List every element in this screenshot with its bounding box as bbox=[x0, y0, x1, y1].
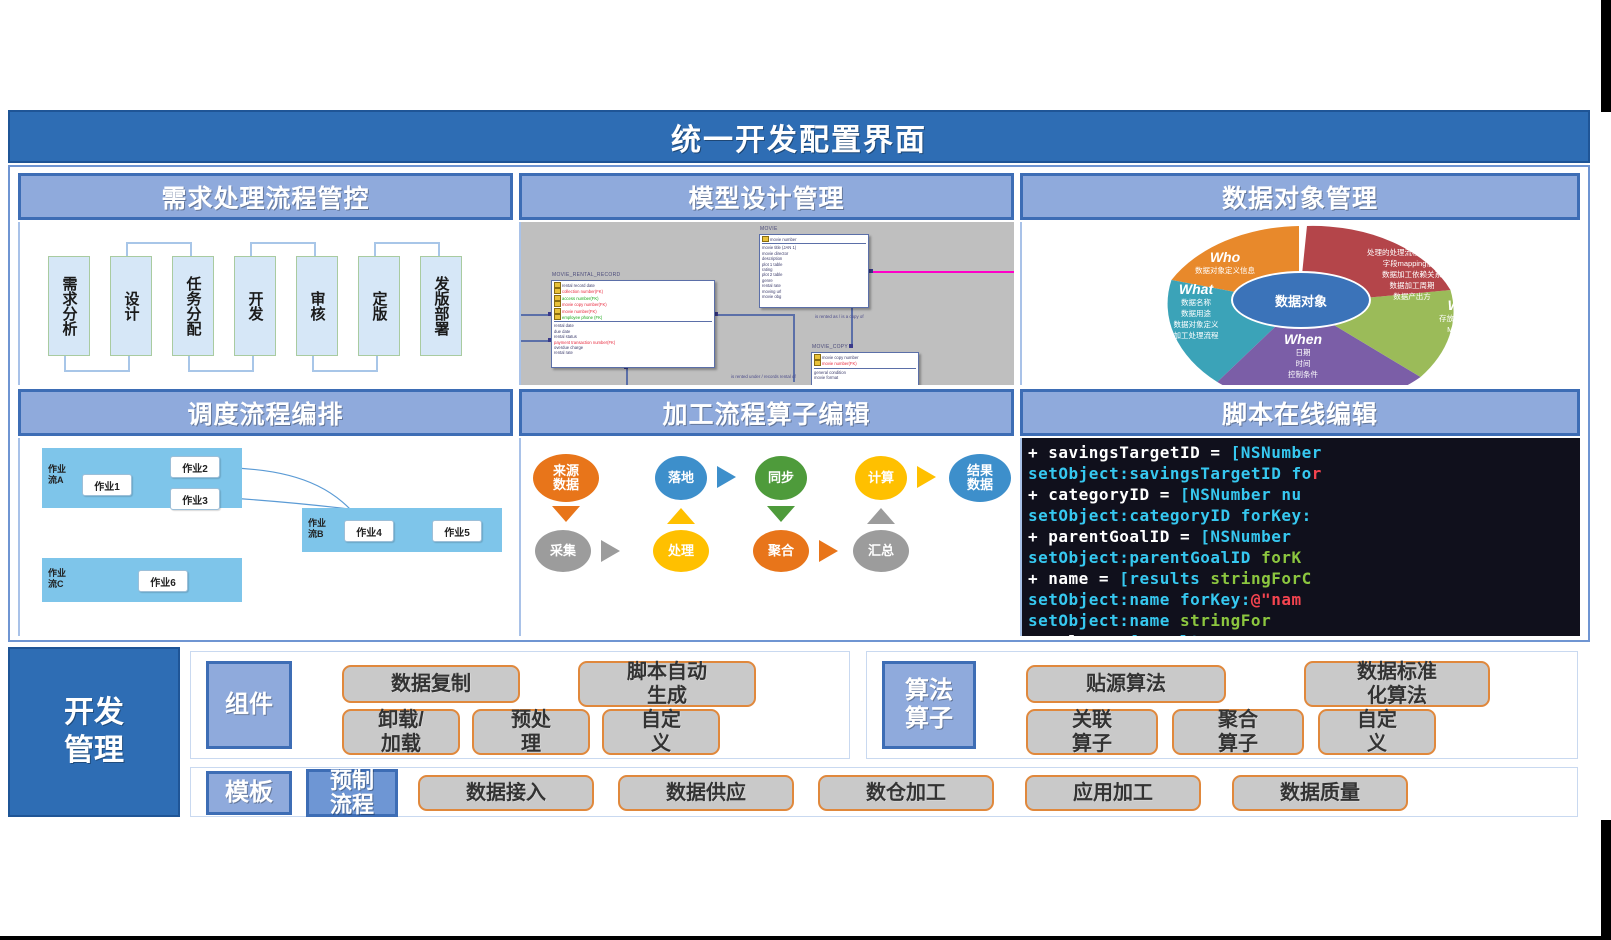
key-icon bbox=[814, 354, 821, 360]
operator-node-sync[interactable]: 同步 bbox=[755, 456, 807, 500]
category-label: 组件 bbox=[225, 691, 273, 719]
er-table-name: MOVIE_COPY bbox=[812, 345, 848, 350]
operator-label: 落地 bbox=[668, 471, 694, 485]
flow-step-5[interactable]: 审核 bbox=[296, 256, 338, 356]
panel-header-data-object: 数据对象管理 bbox=[1020, 173, 1580, 220]
er-relation-label-1: is rented as / is a copy of bbox=[815, 314, 887, 320]
panel-header-script-editor: 脚本在线编辑 bbox=[1020, 389, 1580, 436]
dev-management-label: 开发管理 bbox=[64, 694, 124, 770]
arrow-right-land-to-sync bbox=[717, 466, 736, 488]
er-field: movie number bbox=[770, 237, 797, 242]
code-line: + color = [results bbox=[1028, 631, 1580, 636]
flow-step-6[interactable]: 定版 bbox=[358, 256, 400, 356]
key-icon bbox=[554, 301, 561, 307]
operator-label: 计算 bbox=[868, 471, 894, 485]
requirement-flow-diagram: 需求分析 设计 任务分配 开发 审核 定版 发版部署 bbox=[48, 240, 488, 370]
flow-step-3[interactable]: 任务分配 bbox=[172, 256, 214, 356]
page-edge-right-top bbox=[1601, 0, 1611, 112]
donut-label-desc: 存放物理位置信息 bbox=[1394, 313, 1544, 324]
er-table-name: MOVIE_RENTAL_RECORD bbox=[552, 273, 620, 278]
job-node-3[interactable]: 作业3 bbox=[170, 488, 220, 510]
job-label: 作业3 bbox=[182, 492, 208, 507]
key-icon bbox=[554, 288, 561, 294]
job-flow-a-label: 作业流A bbox=[48, 464, 66, 486]
panel-script-editor[interactable]: 脚本在线编辑 + savingsTargetID = [NSNumber set… bbox=[1020, 389, 1580, 636]
pill-warehouse-processing[interactable]: 数仓加工 bbox=[818, 775, 994, 811]
page-edge-right-bottom bbox=[1601, 820, 1611, 940]
key-icon bbox=[554, 295, 561, 301]
arrow-down-sync-to-agg bbox=[767, 506, 795, 522]
er-field-list: movie title (JAN 1) movie director descr… bbox=[762, 245, 866, 299]
development-management-section: 开发管理 组件 数据复制 脚本自动生成 卸载/加载 预处理 自定义 算法算子 贴… bbox=[8, 647, 1590, 817]
flow-connector-bottom-3 bbox=[312, 356, 378, 372]
category-label: 算法算子 bbox=[905, 677, 953, 733]
category-label: 模板 bbox=[225, 779, 273, 807]
er-line-pink bbox=[871, 271, 1014, 273]
arrow-up-sum-to-calc bbox=[867, 508, 895, 524]
job-node-2[interactable]: 作业2 bbox=[170, 456, 220, 478]
panel-body-model-design: MOVIE_RENTAL_RECORD rental record date c… bbox=[519, 222, 1014, 385]
operator-label: 同步 bbox=[768, 471, 794, 485]
donut-label-desc: 处理的处理流程及加工算法 bbox=[1332, 247, 1492, 258]
er-line-down bbox=[626, 367, 628, 385]
panel-body-data-object: Who 数据对象定义信息 How 处理的处理流程及加工算法 字段mapping信… bbox=[1020, 222, 1580, 385]
operator-node-result[interactable]: 结果数据 bbox=[949, 454, 1011, 502]
er-field: rental status bbox=[554, 334, 577, 339]
code-line: setObject:name stringFor bbox=[1028, 610, 1580, 631]
arrow-down-source-to-collect bbox=[552, 506, 580, 522]
operator-label: 聚合 bbox=[768, 544, 794, 558]
code-editor-area[interactable]: + savingsTargetID = [NSNumber setObject:… bbox=[1022, 438, 1580, 636]
operator-node-source[interactable]: 来源数据 bbox=[533, 454, 599, 502]
donut-label-where: Where 存放物理位置信息 Mapping关系 bbox=[1394, 300, 1544, 335]
er-line-left-1 bbox=[521, 314, 551, 316]
panel-requirement-process[interactable]: 需求处理流程管控 需求分析 设计 任务分配 开发 审核 bbox=[18, 173, 513, 385]
pill-data-supply[interactable]: 数据供应 bbox=[618, 775, 794, 811]
donut-label-key: Where bbox=[1394, 300, 1544, 311]
code-line: setObject:name forKey:@"nam bbox=[1028, 589, 1580, 610]
dev-management-sidebar[interactable]: 开发管理 bbox=[8, 647, 180, 817]
dev-management-content: 组件 数据复制 脚本自动生成 卸载/加载 预处理 自定义 算法算子 贴源算法 数… bbox=[180, 647, 1590, 817]
donut-label-key: How bbox=[1332, 234, 1492, 245]
job-flow-c-label: 作业流C bbox=[48, 568, 66, 590]
panel-title: 模型设计管理 bbox=[688, 179, 844, 215]
er-field: employee phone (FK) bbox=[562, 315, 602, 320]
er-line-mid-vert bbox=[793, 314, 795, 382]
er-field: movie format bbox=[814, 375, 838, 380]
dev-row-templates: 模板 预制流程 数据接入 数据供应 数仓加工 应用加工 数据质量 bbox=[180, 767, 1590, 817]
operator-label: 处理 bbox=[668, 544, 694, 558]
panel-header-scheduler: 调度流程编排 bbox=[18, 389, 513, 436]
key-icon bbox=[814, 360, 821, 366]
pill-source-algorithm[interactable]: 贴源算法 bbox=[1026, 665, 1226, 703]
panel-operator-editor[interactable]: 加工流程算子编辑 来源数据 落地 同步 计算 结果数据 采集 处理 bbox=[519, 389, 1014, 636]
pill-data-quality[interactable]: 数据质量 bbox=[1232, 775, 1408, 811]
donut-label-desc: Mapping关系 bbox=[1394, 324, 1544, 335]
er-field: plot 1 table bbox=[762, 262, 783, 267]
flow-connector-bottom-1 bbox=[64, 356, 130, 372]
er-field: access number(FK) bbox=[562, 296, 599, 301]
arrow-right-collect-to-process bbox=[601, 540, 620, 562]
donut-label-desc: 字段mapping信息 bbox=[1332, 258, 1492, 269]
job-label: 作业2 bbox=[182, 460, 208, 475]
pill-aggregation-operator[interactable]: 聚合算子 bbox=[1172, 709, 1304, 755]
code-line: setObject:savingsTargetID for bbox=[1028, 463, 1580, 484]
panel-body-scheduler: 作业流A 作业1 作业2 作业3 作业流B 作业4 作业5 作业流C 作业6 bbox=[18, 438, 513, 636]
donut-center-label: 数据对象 bbox=[1231, 271, 1371, 329]
er-field: rental date bbox=[554, 323, 574, 328]
main-title-bar: 统一开发配置界面 bbox=[8, 110, 1590, 163]
panel-title: 加工流程算子编辑 bbox=[662, 395, 870, 431]
data-object-donut-chart: Who 数据对象定义信息 How 处理的处理流程及加工算法 字段mapping信… bbox=[1022, 222, 1580, 385]
panel-header-requirement-process: 需求处理流程管控 bbox=[18, 173, 513, 220]
flow-step-label: 审核 bbox=[310, 291, 325, 321]
er-dot-6 bbox=[869, 269, 873, 273]
er-field: movie copy number bbox=[822, 355, 859, 360]
er-line-mid bbox=[716, 314, 794, 316]
flow-step-label: 发版部署 bbox=[434, 276, 449, 336]
donut-label-key: Who bbox=[1150, 252, 1300, 263]
key-icon bbox=[762, 236, 769, 242]
pill-data-standardization-algorithm[interactable]: 数据标准化算法 bbox=[1304, 661, 1490, 707]
panel-header-operator-editor: 加工流程算子编辑 bbox=[519, 389, 1014, 436]
operator-node-calc[interactable]: 计算 bbox=[855, 456, 907, 500]
er-field: movie obg bbox=[762, 294, 781, 299]
pill-association-operator[interactable]: 关联算子 bbox=[1026, 709, 1158, 755]
er-field: moving url bbox=[762, 289, 781, 294]
donut-label-desc: 加工处理流程 bbox=[1130, 330, 1262, 341]
code-line: + name = [results stringForC bbox=[1028, 568, 1580, 589]
category-preset-flow[interactable]: 预制流程 bbox=[306, 769, 398, 817]
job-label: 作业5 bbox=[444, 524, 470, 539]
er-key-list: rental record date collection number(FK)… bbox=[554, 282, 712, 322]
donut-label-desc: 控制条件 bbox=[1238, 369, 1368, 380]
er-field: rental record date bbox=[562, 283, 595, 288]
job-flow-b-label: 作业流B bbox=[308, 518, 326, 540]
er-table-name: MOVIE bbox=[760, 227, 778, 232]
er-field: movie director bbox=[762, 251, 788, 256]
er-field: movie title (JAN 1) bbox=[762, 245, 796, 250]
panel-body-script-editor: + savingsTargetID = [NSNumber setObject:… bbox=[1020, 438, 1580, 636]
er-field: genre bbox=[762, 278, 773, 283]
er-field: rental rate bbox=[554, 350, 573, 355]
operator-label: 汇总 bbox=[868, 544, 894, 558]
job-node-5[interactable]: 作业5 bbox=[432, 520, 482, 542]
pill-data-replication[interactable]: 数据复制 bbox=[342, 665, 520, 703]
flow-step-1[interactable]: 需求分析 bbox=[48, 256, 90, 356]
er-field: due date bbox=[554, 329, 570, 334]
flow-step-4[interactable]: 开发 bbox=[234, 256, 276, 356]
pill-data-ingestion[interactable]: 数据接入 bbox=[418, 775, 594, 811]
flow-step-label: 任务分配 bbox=[186, 276, 201, 336]
er-field: collection number(FK) bbox=[562, 289, 603, 294]
job-node-1[interactable]: 作业1 bbox=[82, 474, 132, 496]
er-field: overdue charge bbox=[554, 345, 583, 350]
arrow-up-process-to-land bbox=[667, 508, 695, 524]
pill-script-auto-generation[interactable]: 脚本自动生成 bbox=[578, 661, 756, 707]
er-table-movie[interactable]: MOVIE movie number movie title (JAN 1) m… bbox=[759, 234, 869, 308]
category-label: 预制流程 bbox=[330, 769, 374, 817]
operator-node-collect[interactable]: 采集 bbox=[535, 530, 591, 572]
job-label: 作业4 bbox=[356, 524, 382, 539]
category-algorithm-operators[interactable]: 算法算子 bbox=[882, 661, 976, 749]
donut-label-desc: 数据对象定义 bbox=[1130, 319, 1262, 330]
job-node-4[interactable]: 作业4 bbox=[344, 520, 394, 542]
arrow-right-calc-to-result bbox=[917, 466, 936, 488]
pill-preprocess[interactable]: 预处理 bbox=[472, 709, 590, 755]
pill-application-processing[interactable]: 应用加工 bbox=[1025, 775, 1201, 811]
operator-label: 采集 bbox=[550, 544, 576, 558]
er-field: description bbox=[762, 256, 782, 261]
job-node-6[interactable]: 作业6 bbox=[138, 570, 188, 592]
flow-step-7[interactable]: 发版部署 bbox=[420, 256, 462, 356]
panel-data-object[interactable]: 数据对象管理 bbox=[1020, 173, 1580, 385]
panel-model-design[interactable]: 模型设计管理 bbox=[519, 173, 1014, 385]
er-field: general condition bbox=[814, 370, 846, 375]
pill-custom-algorithm[interactable]: 自定义 bbox=[1318, 709, 1436, 755]
code-line: setObject:categoryID forKey: bbox=[1028, 505, 1580, 526]
er-field: plot 2 table bbox=[762, 272, 783, 277]
code-line: + categoryID = [NSNumber nu bbox=[1028, 484, 1580, 505]
er-diagram: MOVIE_RENTAL_RECORD rental record date c… bbox=[521, 222, 1014, 385]
er-table-movie-copy[interactable]: MOVIE_COPY movie copy number movie numbe… bbox=[811, 352, 919, 385]
er-line-movie-copy bbox=[851, 304, 853, 346]
panel-title: 数据对象管理 bbox=[1222, 179, 1378, 215]
panel-grid: 需求处理流程管控 需求分析 设计 任务分配 开发 审核 bbox=[8, 165, 1590, 642]
flow-step-label: 定版 bbox=[372, 291, 387, 321]
operator-node-land[interactable]: 落地 bbox=[655, 456, 707, 500]
operator-node-aggregate[interactable]: 聚合 bbox=[753, 530, 809, 572]
er-field: payment transaction number(FK) bbox=[554, 340, 615, 345]
donut-center-text: 数据对象 bbox=[1275, 291, 1327, 310]
er-table-movie-rental-record[interactable]: MOVIE_RENTAL_RECORD rental record date c… bbox=[551, 280, 715, 368]
pill-custom-component[interactable]: 自定义 bbox=[602, 709, 720, 755]
diagram-canvas: 统一开发配置界面 需求处理流程管控 需求分析 设计 bbox=[8, 110, 1595, 820]
er-field-list: rental date due date rental status payme… bbox=[554, 323, 712, 355]
code-line: + parentGoalID = [NSNumber bbox=[1028, 526, 1580, 547]
code-line: setObject:parentGoalID forK bbox=[1028, 547, 1580, 568]
panel-header-model-design: 模型设计管理 bbox=[519, 173, 1014, 220]
panel-title: 调度流程编排 bbox=[187, 395, 343, 431]
flow-step-2[interactable]: 设计 bbox=[110, 256, 152, 356]
er-dot-5 bbox=[849, 344, 853, 348]
er-key-list: movie number bbox=[762, 236, 866, 244]
panel-body-operator-editor: 来源数据 落地 同步 计算 结果数据 采集 处理 聚合 汇总 bbox=[519, 438, 1014, 636]
key-icon bbox=[554, 282, 561, 288]
job-label: 作业6 bbox=[150, 574, 176, 589]
arrow-right-agg-to-sum bbox=[819, 540, 838, 562]
donut-label-desc: 日期 bbox=[1238, 347, 1368, 358]
panel-title: 脚本在线编辑 bbox=[1222, 395, 1378, 431]
dev-row-components: 组件 数据复制 脚本自动生成 卸载/加载 预处理 自定义 算法算子 贴源算法 数… bbox=[180, 647, 1590, 763]
category-components[interactable]: 组件 bbox=[206, 661, 292, 749]
job-label: 作业1 bbox=[94, 478, 120, 493]
er-field-list: general condition movie format bbox=[814, 370, 916, 381]
flow-connector-bottom-2 bbox=[188, 356, 254, 372]
key-icon bbox=[554, 314, 561, 320]
flow-step-label: 设计 bbox=[124, 291, 139, 321]
er-field: rating bbox=[762, 267, 772, 272]
key-icon bbox=[554, 308, 561, 314]
er-field: movie number(FK) bbox=[562, 309, 597, 314]
donut-label-desc: 时间 bbox=[1238, 358, 1368, 369]
er-field: movie number(FK) bbox=[822, 361, 857, 366]
er-field: rental rate bbox=[762, 283, 781, 288]
panel-title: 需求处理流程管控 bbox=[161, 179, 369, 215]
code-line: + savingsTargetID = [NSNumber bbox=[1028, 442, 1580, 463]
donut-label-desc: 数据加工依赖关系 bbox=[1332, 269, 1492, 280]
operator-node-process[interactable]: 处理 bbox=[653, 530, 709, 572]
er-line-left-2 bbox=[521, 340, 551, 342]
er-key-list: movie copy number movie number(FK) bbox=[814, 354, 916, 369]
operator-node-summary[interactable]: 汇总 bbox=[853, 530, 909, 572]
flow-step-label: 开发 bbox=[248, 291, 263, 321]
er-relation-label-2: is rented under / records rental of bbox=[731, 374, 811, 380]
category-template[interactable]: 模板 bbox=[206, 771, 292, 815]
panel-scheduler[interactable]: 调度流程编排 作业流A 作业1 作业2 作业3 作业流B 作业4 作业5 bbox=[18, 389, 513, 636]
main-title-text: 统一开发配置界面 bbox=[671, 115, 927, 159]
panel-body-requirement-process: 需求分析 设计 任务分配 开发 审核 定版 发版部署 bbox=[18, 222, 513, 385]
pill-unload-load[interactable]: 卸载/加载 bbox=[342, 709, 460, 755]
page-edge-bottom bbox=[0, 936, 1611, 940]
flow-step-label: 需求分析 bbox=[62, 276, 77, 336]
er-field: movie copy number(FK) bbox=[562, 302, 607, 307]
